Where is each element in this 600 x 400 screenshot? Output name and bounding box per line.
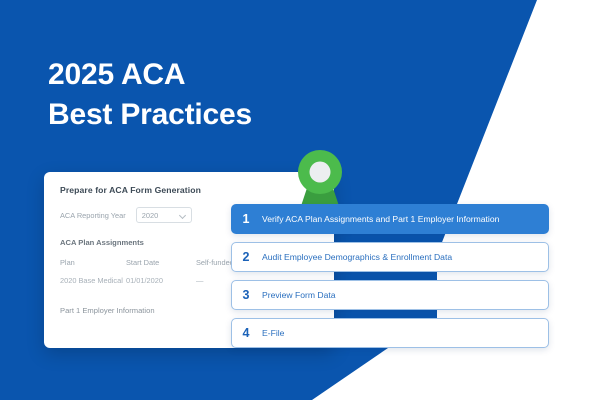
reporting-year-value: 2020 bbox=[142, 211, 158, 220]
card-title: Prepare for ACA Form Generation bbox=[60, 185, 201, 195]
step-number-1: 1 bbox=[232, 212, 260, 226]
reporting-year-field: ACA Reporting Year 2020 bbox=[60, 207, 192, 223]
reporting-year-label: ACA Reporting Year bbox=[60, 211, 126, 220]
step-item-2[interactable]: 2 Audit Employee Demographics & Enrollme… bbox=[231, 242, 549, 272]
step-label-1: Verify ACA Plan Assignments and Part 1 E… bbox=[260, 214, 499, 224]
step-number-2: 2 bbox=[232, 250, 260, 264]
cell-plan: 2020 Base Medical bbox=[60, 271, 126, 285]
step-label-2: Audit Employee Demographics & Enrollment… bbox=[260, 252, 452, 262]
page-title: 2025 ACA Best Practices bbox=[48, 55, 252, 135]
step-item-3[interactable]: 3 Preview Form Data bbox=[231, 280, 549, 310]
column-header-start-date: Start Date bbox=[126, 254, 196, 271]
chevron-down-icon bbox=[180, 212, 186, 218]
step-item-1[interactable]: 1 Verify ACA Plan Assignments and Part 1… bbox=[231, 204, 549, 234]
part1-employer-information-title: Part 1 Employer Information bbox=[60, 306, 155, 315]
steps-list: 1 Verify ACA Plan Assignments and Part 1… bbox=[231, 204, 549, 356]
step-item-4[interactable]: 4 E-File bbox=[231, 318, 549, 348]
step-label-4: E-File bbox=[260, 328, 284, 338]
step-label-3: Preview Form Data bbox=[260, 290, 336, 300]
cell-start-date: 01/01/2020 bbox=[126, 271, 196, 285]
reporting-year-select[interactable]: 2020 bbox=[136, 207, 192, 223]
column-header-plan: Plan bbox=[60, 254, 126, 271]
slide-canvas: 2025 ACA Best Practices Prepare for ACA … bbox=[0, 0, 600, 400]
step-number-4: 4 bbox=[232, 326, 260, 340]
step-number-3: 3 bbox=[232, 288, 260, 302]
plan-assignments-title: ACA Plan Assignments bbox=[60, 238, 144, 247]
